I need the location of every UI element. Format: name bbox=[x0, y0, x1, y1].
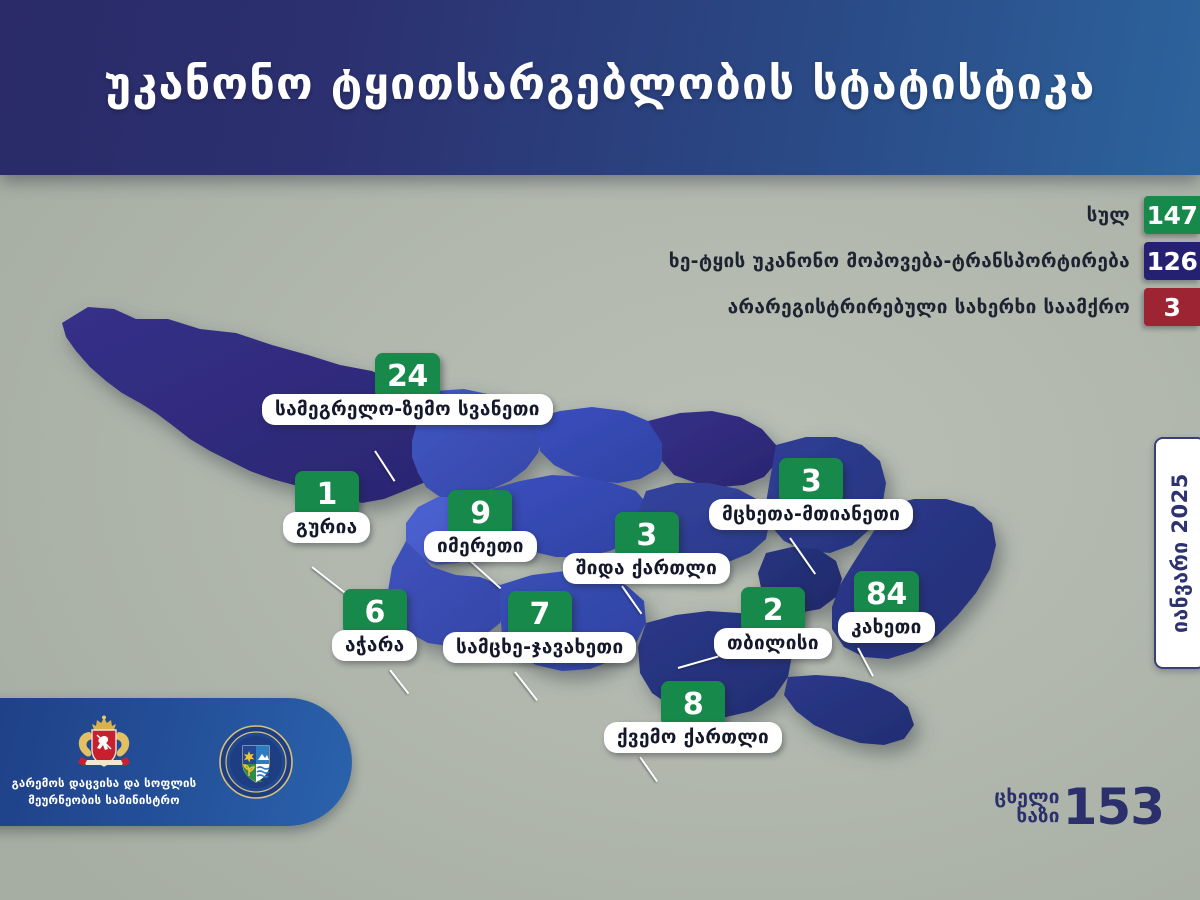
ministry-seal-icon bbox=[218, 724, 294, 800]
legend-item-total: სულ 147 bbox=[1087, 196, 1200, 234]
marker-adjara[interactable]: 6 აჭარა bbox=[332, 589, 417, 661]
legend-value-mill: 3 bbox=[1144, 288, 1200, 326]
hotline-number: 153 bbox=[1063, 784, 1164, 830]
marker-label-mtskheta: მცხეთა-მთიანეთი bbox=[709, 499, 913, 530]
ministry-identity: გარემოს დაცვისა და სოფლის მეურნეობის სამ… bbox=[0, 715, 212, 808]
marker-tbilisi[interactable]: 2 თბილისი bbox=[714, 587, 832, 659]
marker-mtskheta[interactable]: 3 მცხეთა-მთიანეთი bbox=[709, 458, 913, 530]
marker-value-kakheti: 84 bbox=[854, 571, 919, 617]
infographic-page: უკანონო ტყითსარგებლობის სტატისტიკა სულ 1… bbox=[0, 0, 1200, 900]
ministry-name-line2: მეურნეობის სამინისტრო bbox=[12, 792, 197, 809]
marker-label-tbilisi: თბილისი bbox=[714, 628, 832, 659]
marker-value-shida-kartli: 3 bbox=[615, 512, 679, 558]
marker-label-kvemo-kartli: ქვემო ქართლი bbox=[604, 722, 782, 753]
marker-kvemo-kartli[interactable]: 8 ქვემო ქართლი bbox=[604, 681, 782, 753]
legend-item-mill: არარეგისტრირებული სახერხი საამქრო 3 bbox=[728, 288, 1200, 326]
marker-label-adjara: აჭარა bbox=[332, 630, 417, 661]
marker-value-imereti: 9 bbox=[448, 490, 512, 536]
marker-value-samegrelo: 24 bbox=[375, 353, 440, 399]
legend-label-total: სულ bbox=[1087, 204, 1144, 226]
ministry-name: გარემოს დაცვისა და სოფლის მეურნეობის სამ… bbox=[12, 775, 197, 808]
ministry-footer-bar: გარემოს დაცვისა და სოფლის მეურნეობის სამ… bbox=[0, 698, 352, 826]
marker-label-samegrelo: სამეგრელო-ზემო სვანეთი bbox=[262, 394, 553, 425]
marker-value-kvemo-kartli: 8 bbox=[661, 681, 725, 727]
marker-samegrelo[interactable]: 24 სამეგრელო-ზემო სვანეთი bbox=[262, 353, 553, 425]
marker-label-shida-kartli: შიდა ქართლი bbox=[563, 553, 730, 584]
ministry-name-line1: გარემოს დაცვისა და სოფლის bbox=[12, 775, 197, 792]
marker-value-tbilisi: 2 bbox=[741, 587, 805, 633]
marker-label-samtskhe: სამცხე-ჯავახეთი bbox=[443, 632, 636, 663]
legend: სულ 147 ხე-ტყის უკანონო მოპოვება-ტრანსპო… bbox=[669, 196, 1200, 326]
marker-kakheti[interactable]: 84 კახეთი bbox=[838, 571, 935, 643]
legend-item-wood: ხე-ტყის უკანონო მოპოვება-ტრანსპორტირება … bbox=[669, 242, 1200, 280]
marker-guria[interactable]: 1 გურია bbox=[283, 471, 370, 543]
legend-value-total: 147 bbox=[1144, 196, 1200, 234]
date-badge-label: იანვარი 2025 bbox=[1168, 473, 1192, 633]
marker-imereti[interactable]: 9 იმერეთი bbox=[424, 490, 537, 562]
marker-samtskhe[interactable]: 7 სამცხე-ჯავახეთი bbox=[443, 591, 636, 663]
header-banner: უკანონო ტყითსარგებლობის სტატისტიკა bbox=[0, 0, 1200, 175]
legend-value-wood: 126 bbox=[1144, 242, 1200, 280]
georgia-coat-of-arms-icon bbox=[73, 715, 135, 771]
page-title: უკანონო ტყითსარგებლობის სტატისტიკა bbox=[105, 59, 1096, 117]
legend-label-wood: ხე-ტყის უკანონო მოპოვება-ტრანსპორტირება bbox=[669, 250, 1144, 272]
marker-shida-kartli[interactable]: 3 შიდა ქართლი bbox=[563, 512, 730, 584]
marker-label-kakheti: კახეთი bbox=[838, 612, 935, 643]
hotline-label-line2: ხაზი bbox=[994, 807, 1059, 826]
hotline-label: ცხელი ხაზი bbox=[994, 788, 1059, 826]
marker-label-guria: გურია bbox=[283, 512, 370, 543]
marker-value-mtskheta: 3 bbox=[779, 458, 843, 504]
region-southeast-tail bbox=[784, 675, 914, 745]
marker-value-adjara: 6 bbox=[343, 589, 407, 635]
marker-value-samtskhe: 7 bbox=[508, 591, 572, 637]
hotline: ცხელი ხაზი 153 bbox=[994, 784, 1164, 830]
marker-label-imereti: იმერეთი bbox=[424, 531, 537, 562]
legend-label-mill: არარეგისტრირებული სახერხი საამქრო bbox=[728, 296, 1144, 318]
date-badge: იანვარი 2025 bbox=[1154, 437, 1200, 669]
marker-value-guria: 1 bbox=[295, 471, 359, 517]
